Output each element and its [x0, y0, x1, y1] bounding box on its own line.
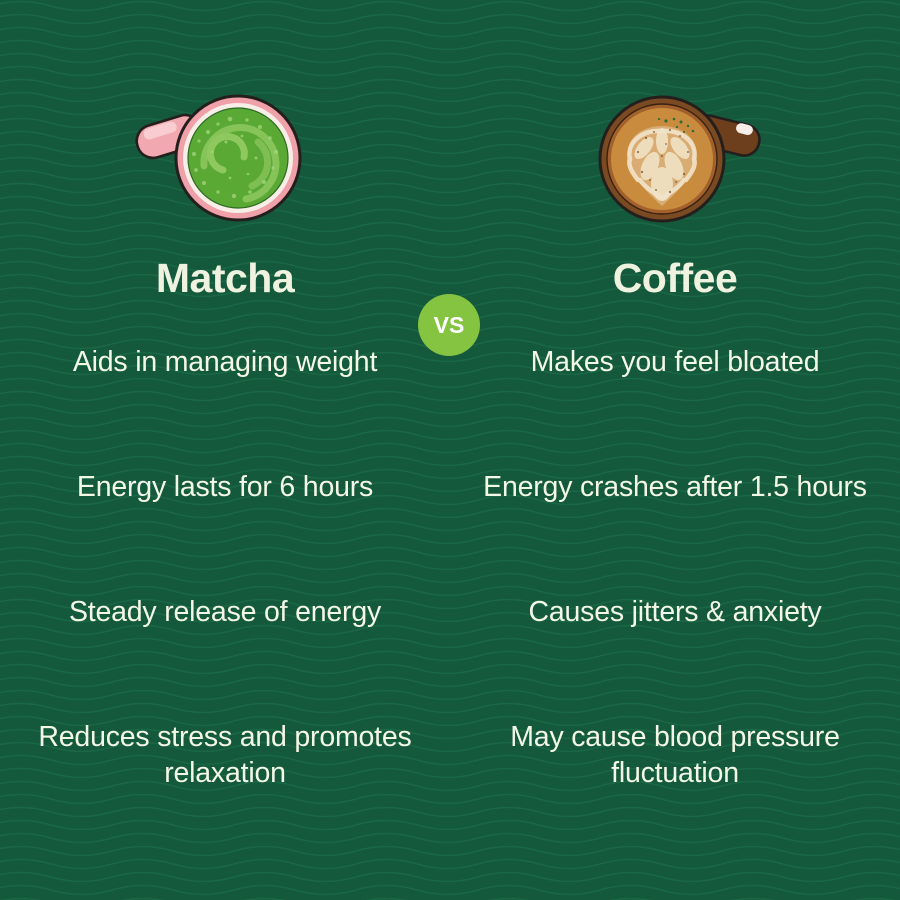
comparison-column-matcha: Matcha Aids in managing weight Energy la…: [10, 0, 440, 900]
benefit-text: Makes you feel bloated: [531, 345, 820, 381]
matcha-latte-cup-icon: [130, 86, 320, 236]
benefit-text: Causes jitters & anxiety: [529, 595, 822, 631]
vs-badge: VS: [418, 294, 480, 356]
benefit-text: Steady release of energy: [69, 595, 381, 631]
benefit-item: May cause blood pressure fluctuation: [460, 720, 890, 845]
benefit-text: Energy crashes after 1.5 hours: [483, 470, 867, 506]
benefit-list-matcha: Aids in managing weight Energy lasts for…: [10, 345, 440, 845]
benefit-item: Energy lasts for 6 hours: [10, 470, 440, 595]
matcha-cup-illustration-wrap: [10, 86, 440, 236]
benefit-item: Causes jitters & anxiety: [460, 595, 890, 720]
benefit-item: Steady release of energy: [10, 595, 440, 720]
vs-badge-label: VS: [434, 314, 465, 337]
benefit-text: May cause blood pressure fluctuation: [475, 720, 875, 791]
benefit-item: Energy crashes after 1.5 hours: [460, 470, 890, 595]
column-heading-matcha: Matcha: [10, 258, 440, 299]
comparison-column-coffee: Coffee Makes you feel bloated Energy cra…: [460, 0, 890, 900]
comparison-infographic: Matcha Aids in managing weight Energy la…: [0, 0, 900, 900]
benefit-item: Reduces stress and promotes relaxation: [10, 720, 440, 845]
column-heading-coffee: Coffee: [460, 258, 890, 299]
benefit-list-coffee: Makes you feel bloated Energy crashes af…: [460, 345, 890, 845]
benefit-text: Energy lasts for 6 hours: [77, 470, 373, 506]
coffee-latte-cup-icon: [580, 86, 770, 236]
benefit-text: Aids in managing weight: [73, 345, 377, 381]
benefit-text: Reduces stress and promotes relaxation: [25, 720, 425, 791]
benefit-item: Makes you feel bloated: [460, 345, 890, 470]
benefit-item: Aids in managing weight: [10, 345, 440, 470]
coffee-cup-illustration-wrap: [460, 86, 890, 236]
